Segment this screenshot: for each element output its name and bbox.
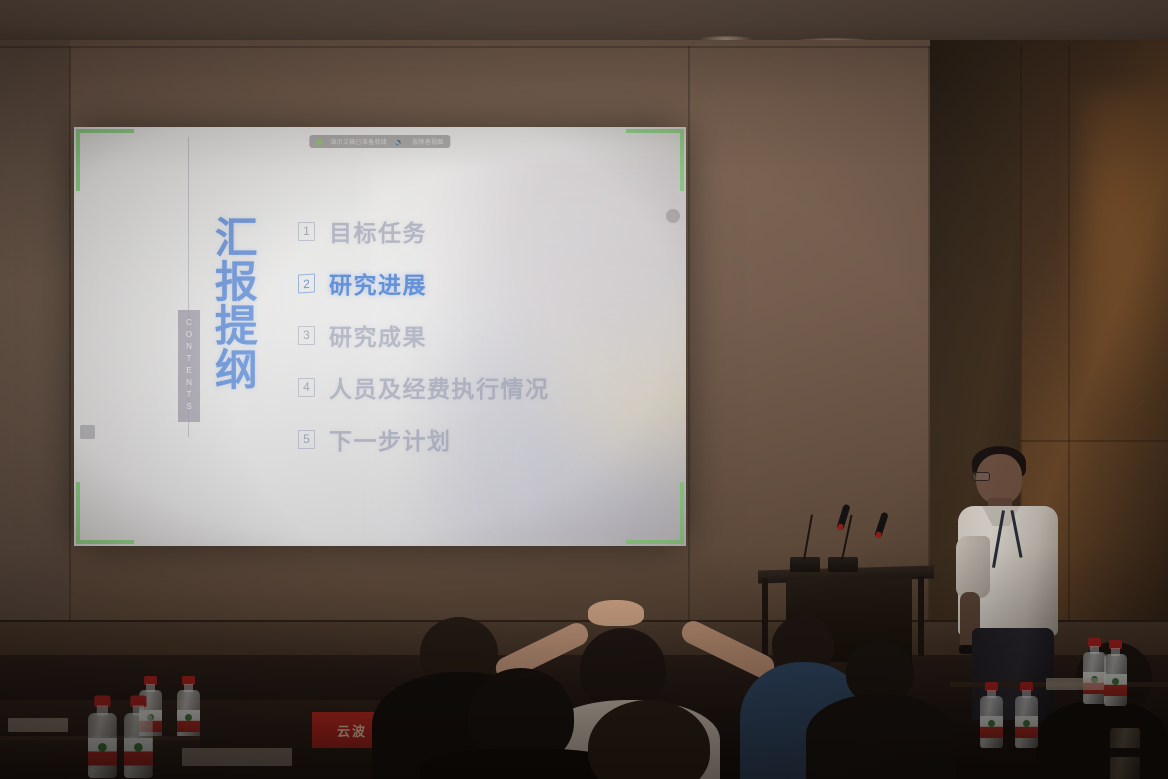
water-bottle bbox=[1083, 638, 1106, 704]
toolbar-status-text: 演示文稿已准备就绪 bbox=[330, 137, 387, 146]
audience-shoulders bbox=[1036, 700, 1168, 779]
presenter-toolbar[interactable]: 演示文稿已准备就绪 🔈 放映者视图 bbox=[309, 135, 450, 148]
presenter bbox=[952, 440, 1062, 700]
agenda-number-2: 2 bbox=[298, 273, 315, 293]
presenter-sleeve bbox=[956, 536, 990, 598]
agenda-number-4: 4 bbox=[298, 378, 315, 397]
agenda-list: 1 目标任务 2 研究进展 3 研究成果 4 人员及经费执行情况 5 下一步 bbox=[298, 205, 638, 465]
bottle-logo-icon bbox=[185, 714, 192, 721]
bottle-logo-icon bbox=[134, 743, 143, 752]
agenda-number-1: 1 bbox=[298, 222, 315, 241]
wall-light-glow bbox=[1080, 90, 1168, 420]
microphone-right bbox=[828, 552, 862, 572]
wall-seam bbox=[1068, 46, 1070, 656]
agenda-label-5: 下一步计划 bbox=[329, 422, 452, 456]
agenda-item-5[interactable]: 5 下一步计划 bbox=[298, 413, 638, 465]
thermos-cup bbox=[1110, 728, 1140, 779]
water-bottle bbox=[1104, 640, 1127, 706]
bottle-logo-icon bbox=[1023, 720, 1030, 727]
agenda-item-3[interactable]: 3 研究成果 bbox=[298, 309, 638, 361]
audience-shoulders bbox=[806, 694, 956, 779]
agenda-item-1[interactable]: 1 目标任务 bbox=[298, 205, 638, 257]
projection-screen: 演示文稿已准备就绪 🔈 放映者视图 CONTENTS 汇报提纲 1 目标任务 2 bbox=[74, 127, 686, 546]
wall-seam bbox=[688, 46, 690, 656]
water-bottle bbox=[1015, 682, 1038, 748]
wall-seam bbox=[69, 46, 71, 656]
bottle-logo-icon bbox=[1112, 678, 1119, 685]
bottle-logo-icon bbox=[98, 743, 107, 752]
bottle-logo-icon bbox=[988, 720, 995, 727]
agenda-label-3: 研究成果 bbox=[329, 318, 427, 352]
agenda-label-2: 研究进展 bbox=[329, 266, 427, 300]
water-bottle bbox=[177, 676, 200, 742]
placard-text: 云波 bbox=[337, 721, 367, 740]
green-status-dot-icon bbox=[316, 139, 322, 145]
paper-document bbox=[1046, 678, 1104, 690]
paper-document bbox=[8, 718, 68, 732]
water-bottle bbox=[88, 696, 117, 779]
slide-right-marker-icon bbox=[666, 209, 680, 223]
powerpoint-slide: 演示文稿已准备就绪 🔈 放映者视图 CONTENTS 汇报提纲 1 目标任务 2 bbox=[74, 127, 686, 546]
thermos-band bbox=[1110, 748, 1140, 757]
audience-hands bbox=[588, 600, 644, 626]
microphone-left bbox=[790, 552, 824, 572]
glasses-icon bbox=[972, 472, 990, 481]
contents-sidebar-bar: CONTENTS bbox=[178, 310, 200, 422]
slide-title: 汇报提纲 bbox=[208, 215, 255, 465]
podium-leg bbox=[762, 578, 768, 658]
water-bottle bbox=[980, 682, 1003, 748]
agenda-label-4: 人员及经费执行情况 bbox=[329, 370, 550, 404]
paper-document bbox=[182, 748, 292, 766]
contents-label: CONTENTS bbox=[185, 318, 194, 414]
podium-leg bbox=[918, 576, 924, 656]
agenda-number-5: 5 bbox=[298, 430, 315, 449]
agenda-label-1: 目标任务 bbox=[329, 214, 427, 248]
agenda-number-3: 3 bbox=[298, 326, 315, 345]
water-bottle bbox=[124, 696, 153, 779]
wall-left-column bbox=[0, 40, 70, 655]
slide-left-marker-icon bbox=[80, 425, 95, 439]
conference-room-photo: 演示文稿已准备就绪 🔈 放映者视图 CONTENTS 汇报提纲 1 目标任务 2 bbox=[0, 0, 1168, 779]
toolbar-speaker-text: 放映者视图 bbox=[412, 137, 444, 146]
audience-head bbox=[580, 628, 666, 710]
speaker-icon: 🔈 bbox=[395, 138, 404, 146]
agenda-item-4[interactable]: 4 人员及经费执行情况 bbox=[298, 361, 638, 413]
agenda-item-2[interactable]: 2 研究进展 bbox=[298, 257, 638, 309]
